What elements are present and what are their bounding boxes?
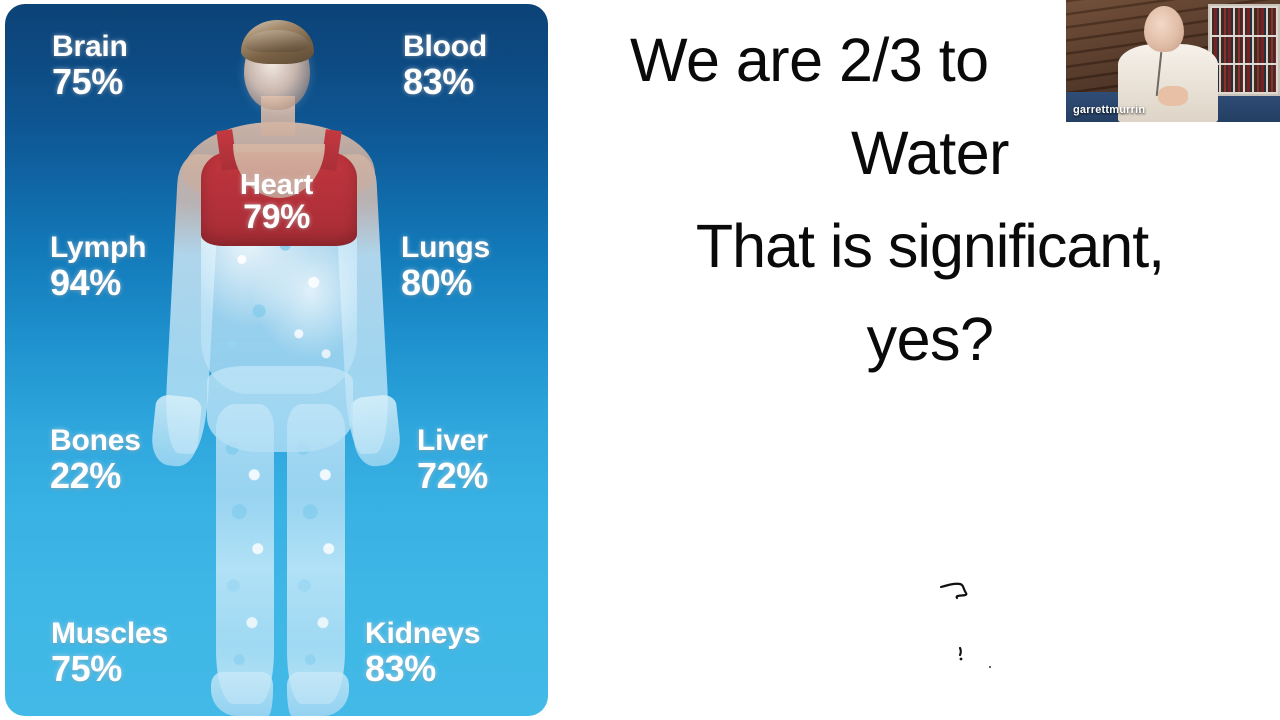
stat-heart: Heart 79% <box>5 170 548 236</box>
stat-lymph: Lymph 94% <box>50 232 146 301</box>
ink-dot-1 <box>960 658 963 661</box>
body-hand-right-icon <box>349 394 402 468</box>
stat-bones-label: Bones <box>50 425 141 457</box>
body-leg-left-icon <box>216 404 274 704</box>
stat-lungs-value: 80% <box>401 264 490 302</box>
body-hand-left-icon <box>149 394 202 468</box>
body-foot-left-icon <box>211 672 273 716</box>
stat-blood-label: Blood <box>403 31 487 63</box>
stat-kidneys-value: 83% <box>365 650 480 688</box>
stat-blood-value: 83% <box>403 63 487 101</box>
ink-stroke-1 <box>941 584 966 598</box>
presenter-name-label: garrettmurrin <box>1073 104 1145 116</box>
slide-text-line-3: That is significant, <box>600 200 1260 293</box>
webcam-overlay[interactable]: garrettmurrin <box>1066 0 1280 122</box>
stat-lungs: Lungs 80% <box>401 232 490 301</box>
body-hips-icon <box>207 366 353 452</box>
stat-brain-value: 75% <box>52 63 128 101</box>
stat-kidneys: Kidneys 83% <box>365 618 480 687</box>
presenter-hands-icon <box>1158 86 1188 106</box>
stat-heart-label: Heart <box>5 170 548 200</box>
stat-liver: Liver 72% <box>417 425 488 494</box>
stat-brain-label: Brain <box>52 31 128 63</box>
presentation-slide: Brain 75% Blood 83% Heart 79% Lymph 94% … <box>0 0 1280 720</box>
bookshelf-icon <box>1208 4 1280 96</box>
stat-blood: Blood 83% <box>403 31 487 100</box>
human-body-figure <box>5 4 548 716</box>
stat-bones-value: 22% <box>50 457 141 495</box>
stat-liver-label: Liver <box>417 425 488 457</box>
ink-stroke-2 <box>960 648 961 655</box>
stat-muscles-value: 75% <box>51 650 168 688</box>
body-hair-icon <box>241 20 314 64</box>
body-leg-right-icon <box>287 404 345 704</box>
stat-muscles: Muscles 75% <box>51 618 168 687</box>
stat-brain: Brain 75% <box>52 31 128 100</box>
slide-text-line-4: yes? <box>600 293 1260 386</box>
body-water-infographic: Brain 75% Blood 83% Heart 79% Lymph 94% … <box>5 4 548 716</box>
stat-bones: Bones 22% <box>50 425 141 494</box>
presenter-head-icon <box>1144 6 1184 52</box>
stat-liver-value: 72% <box>417 457 488 495</box>
stat-lymph-label: Lymph <box>50 232 146 264</box>
stat-muscles-label: Muscles <box>51 618 168 650</box>
stat-lungs-label: Lungs <box>401 232 490 264</box>
body-foot-right-icon <box>287 672 349 716</box>
body-neck-icon <box>261 96 295 136</box>
stat-kidneys-label: Kidneys <box>365 618 480 650</box>
ink-dot-2 <box>989 666 991 668</box>
body-head-icon <box>244 26 310 110</box>
stat-lymph-value: 94% <box>50 264 146 302</box>
